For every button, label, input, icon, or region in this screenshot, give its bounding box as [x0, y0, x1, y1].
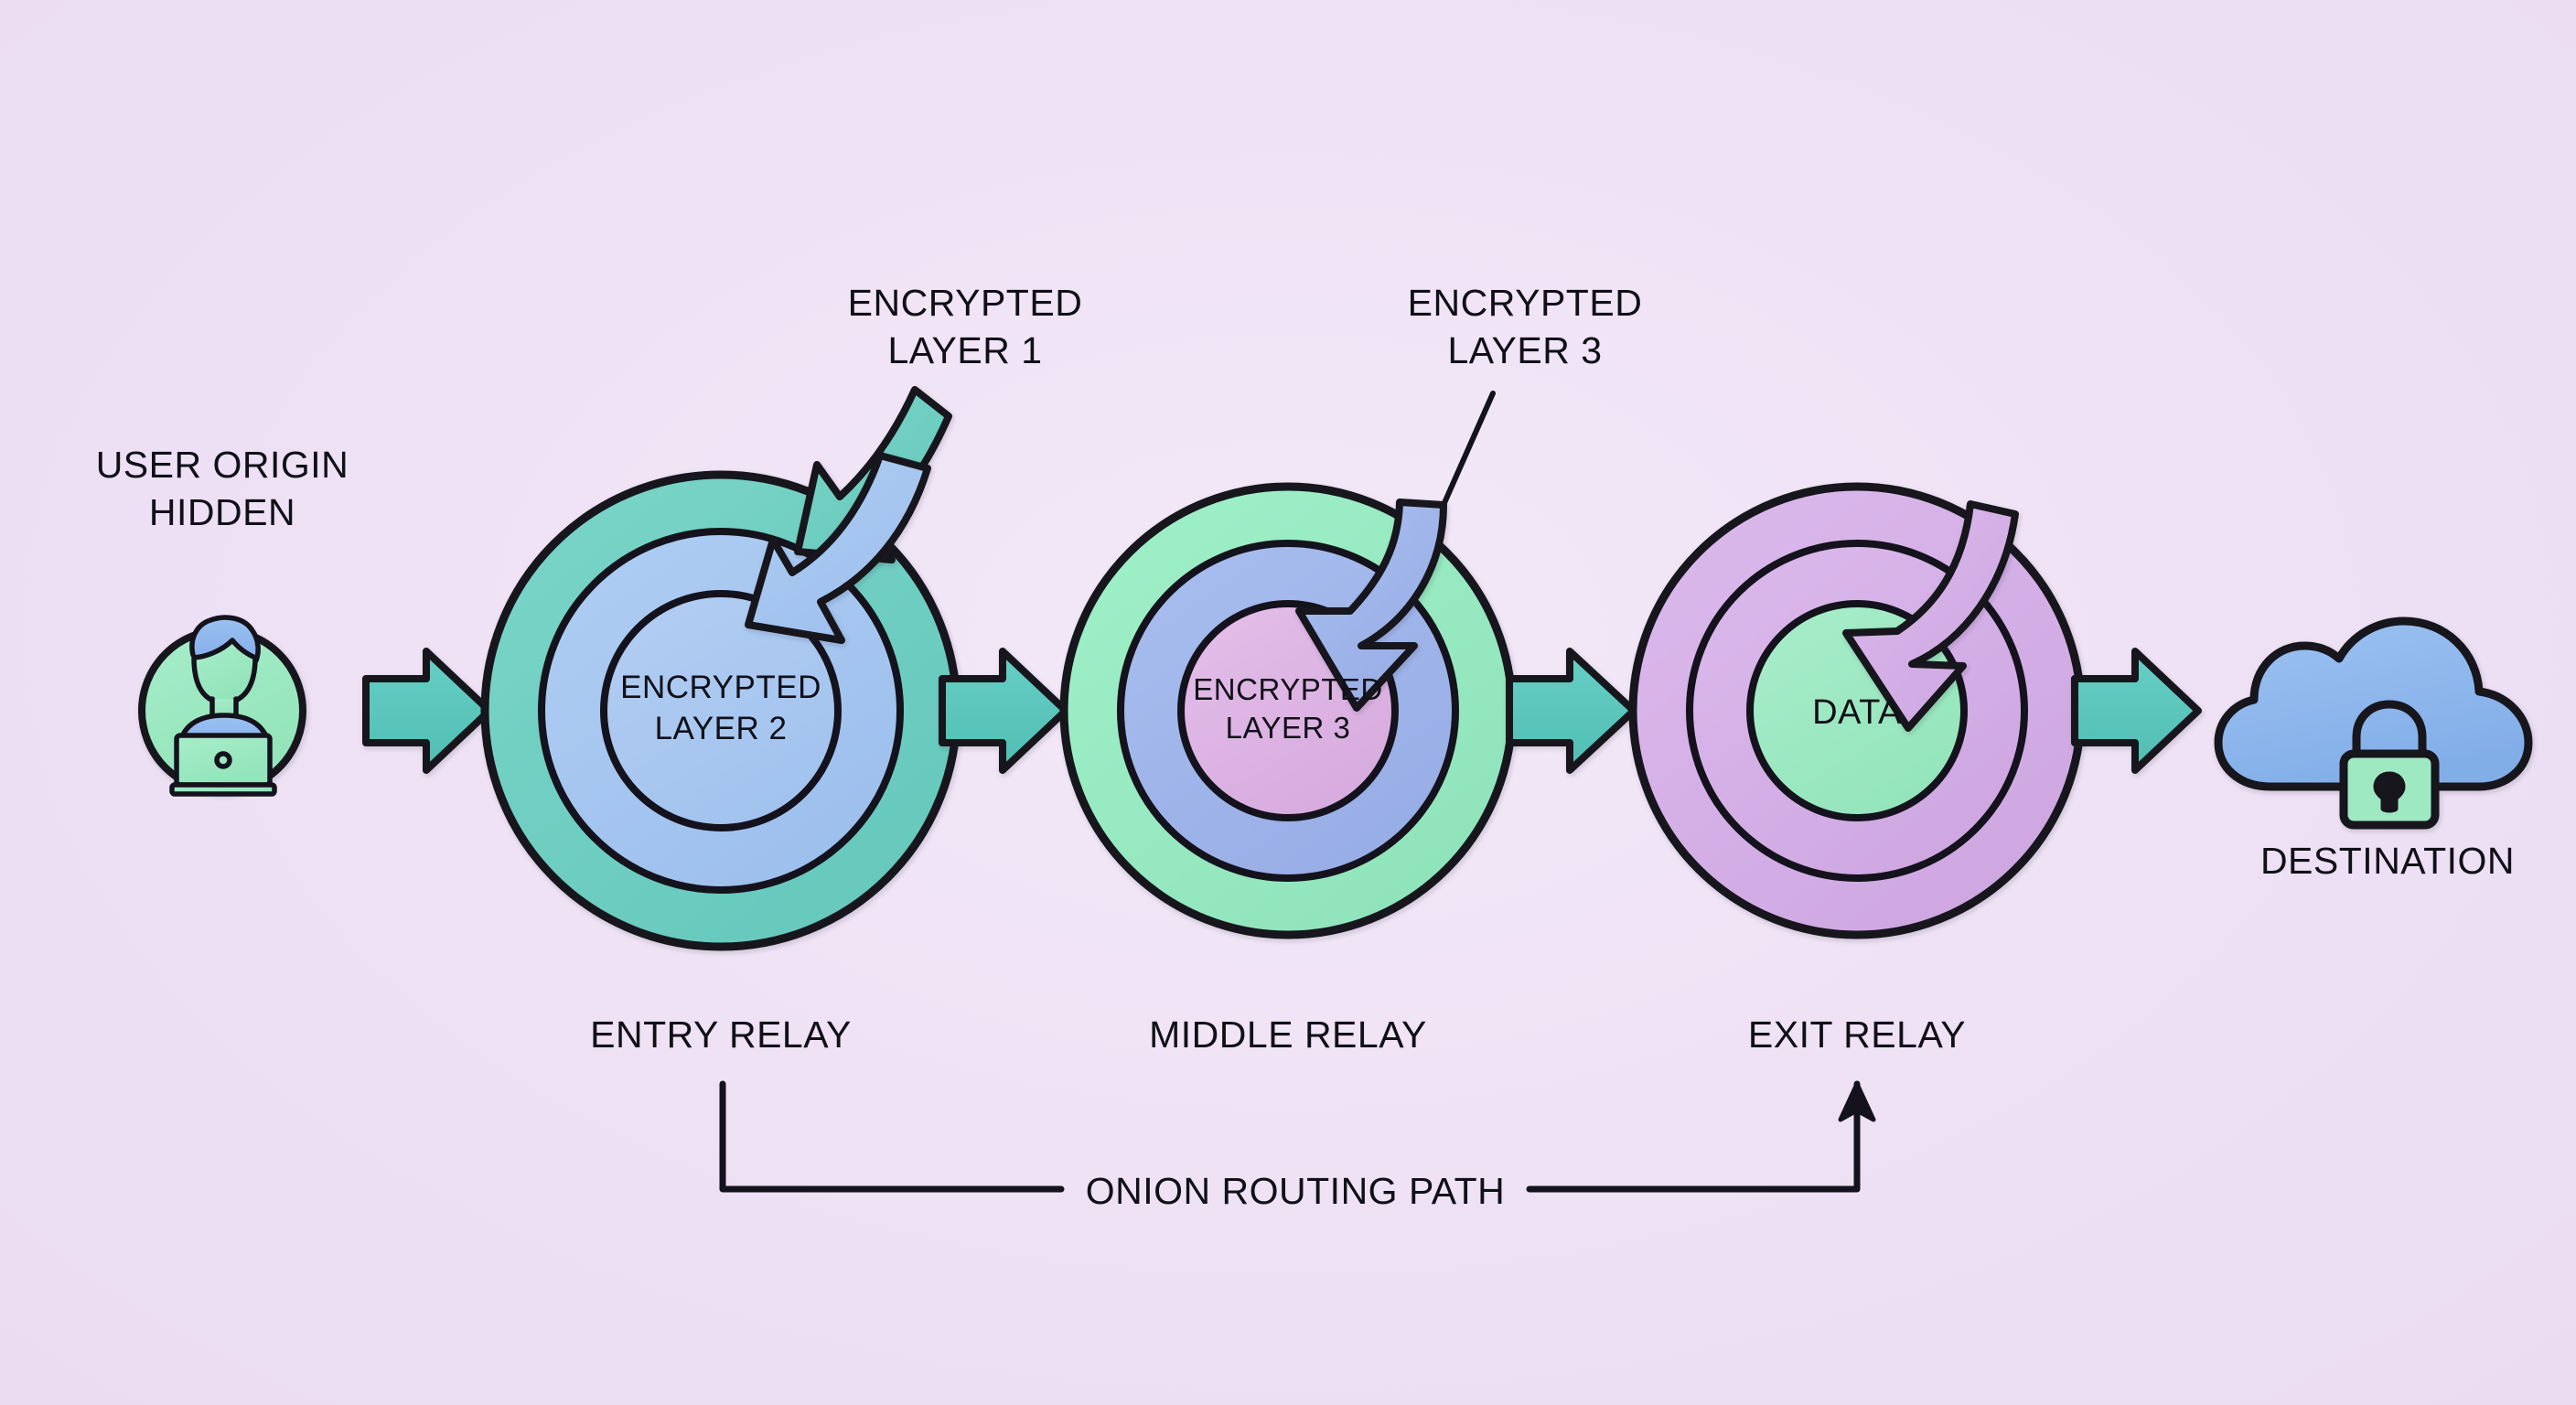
flow-arrow-user-to-entry: [366, 651, 489, 770]
diagram-canvas: USER ORIGINHIDDEN ENCRYPTEDLAYER 1 ENCRY…: [0, 0, 2576, 1405]
onion-routing-diagram-svg: [0, 0, 2576, 1405]
middle-relay-node: [1064, 487, 1512, 935]
flow-arrow-exit-to-destination: [2075, 651, 2198, 770]
onion-routing-path-bracket: [723, 1084, 1873, 1189]
destination-node: [2218, 621, 2528, 825]
callout-leader-line-layer3: [1444, 393, 1493, 505]
flow-arrow-middle-to-exit: [1509, 651, 1634, 770]
flow-arrow-entry-to-middle: [942, 651, 1066, 770]
exit-relay-node: [1633, 487, 2081, 935]
user-origin-node: [142, 617, 303, 794]
